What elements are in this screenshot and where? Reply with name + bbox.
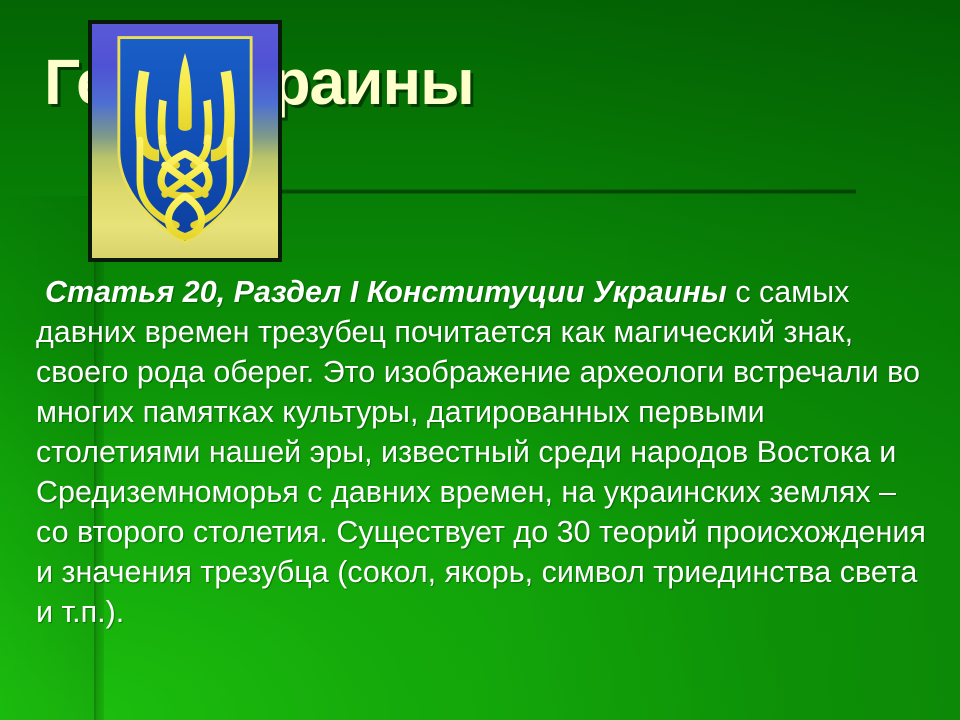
- coat-of-arms-of-ukraine-icon: [88, 20, 282, 262]
- body-paragraph-text: с самых давних времен трезубец почитаетс…: [36, 275, 926, 629]
- coat-of-arms-of-ukraine-svg: [92, 24, 278, 258]
- presentation-slide: Герб Украины: [0, 0, 960, 720]
- body-paragraph: Статья 20, Раздел I Конституции Украины …: [36, 272, 930, 632]
- title-divider-rule: [282, 189, 856, 194]
- body-lead-citation: Статья 20, Раздел I Конституции Украины: [36, 275, 727, 309]
